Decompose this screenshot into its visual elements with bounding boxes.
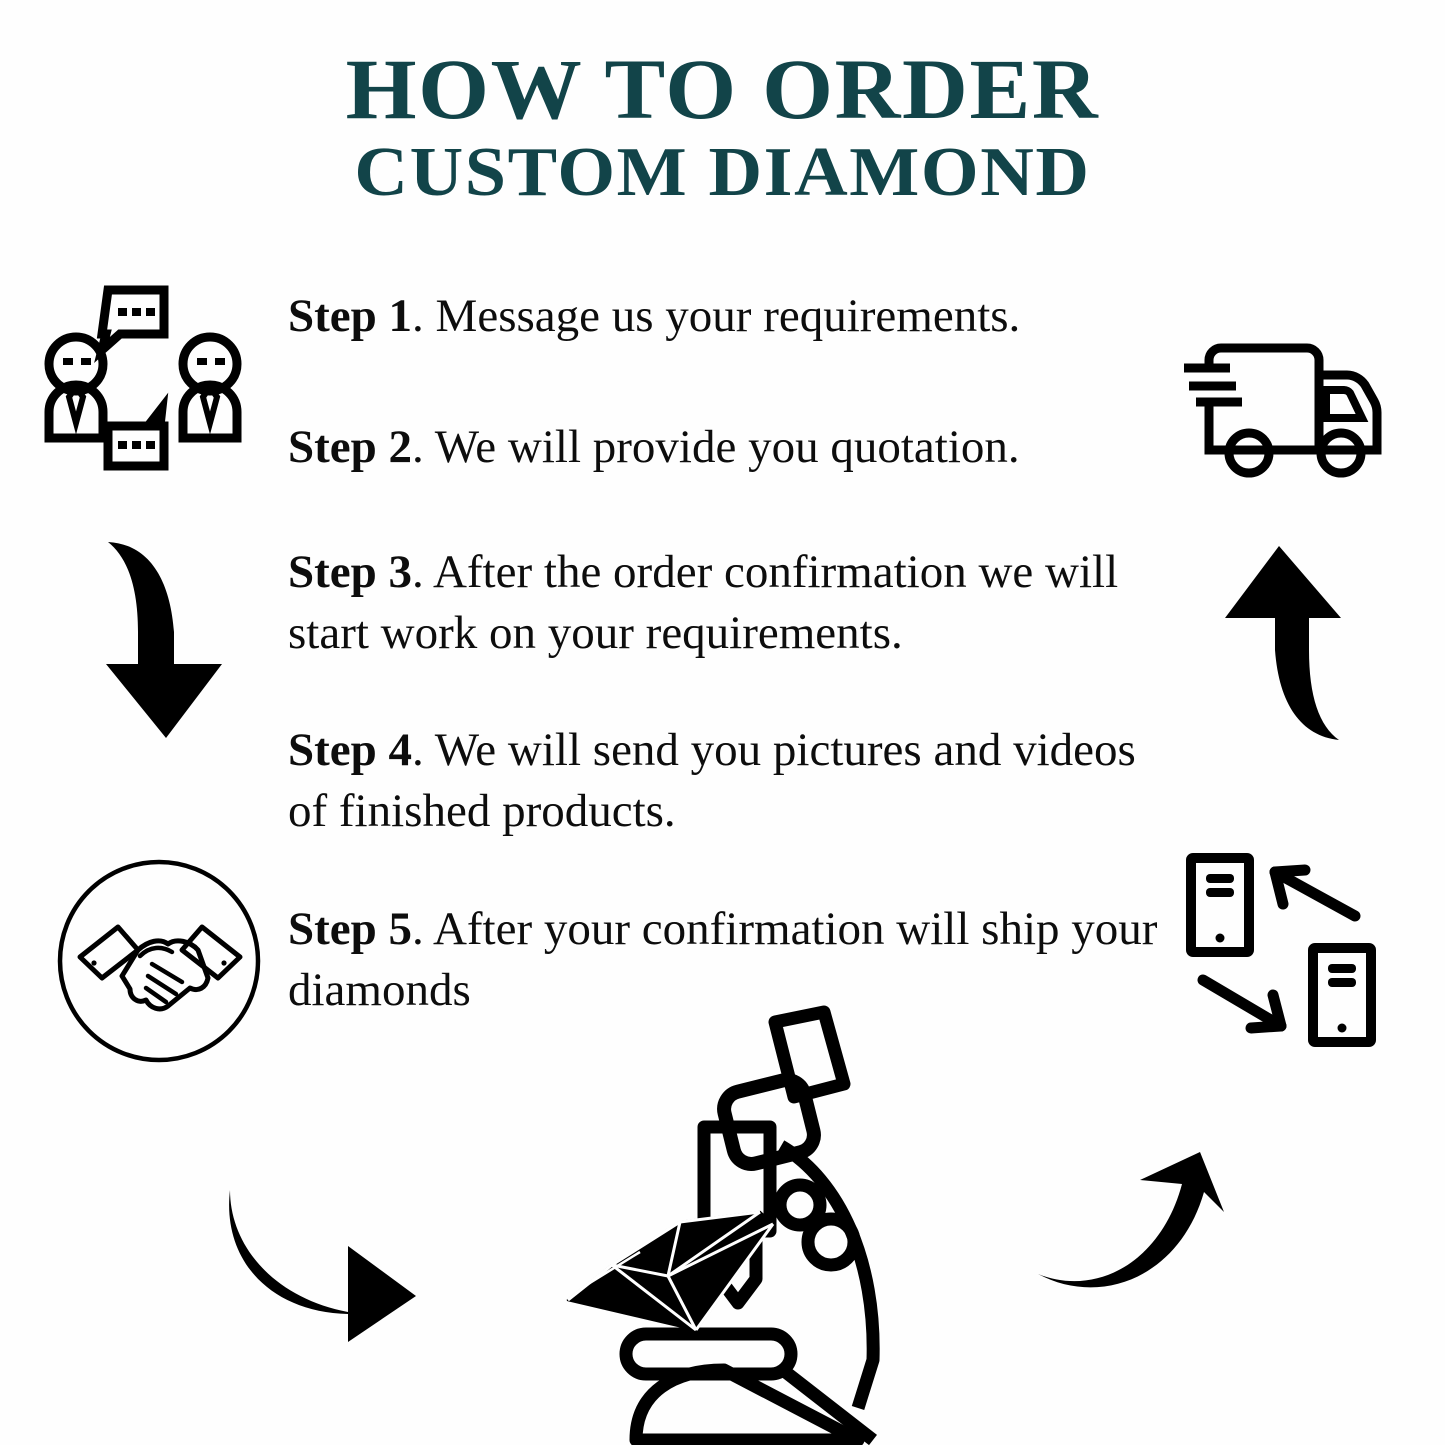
device-transfer-icon bbox=[1165, 848, 1400, 1053]
step-label-4: Step 4 bbox=[288, 724, 412, 776]
title-line-1: HOW TO ORDER bbox=[0, 46, 1445, 132]
step-separator-4: . bbox=[412, 724, 435, 776]
step-label-5: Step 5 bbox=[288, 903, 412, 955]
steps-list: Step 1. Message us your requirements. St… bbox=[288, 286, 1178, 1021]
page-title: HOW TO ORDER CUSTOM DIAMOND bbox=[0, 46, 1445, 208]
delivery-truck-icon bbox=[1176, 330, 1391, 490]
step-separator-3: . bbox=[412, 546, 433, 598]
step-label-2: Step 2 bbox=[288, 421, 412, 473]
step-label-1: Step 1 bbox=[288, 290, 412, 342]
step-item-2: Step 2. We will provide you quotation. bbox=[288, 417, 1178, 478]
step-separator-1: . bbox=[412, 290, 436, 342]
step-text-2: We will provide you quotation. bbox=[435, 421, 1020, 473]
step-separator-5: . bbox=[412, 903, 433, 955]
step-item-1: Step 1. Message us your requirements. bbox=[288, 286, 1178, 347]
title-line-2: CUSTOM DIAMOND bbox=[0, 138, 1445, 208]
arrow-down-curved-icon bbox=[98, 536, 234, 744]
arrow-up-curved-icon bbox=[1213, 540, 1355, 746]
handshake-circle-icon bbox=[56, 858, 262, 1064]
step-label-3: Step 3 bbox=[288, 546, 412, 598]
microscope-diamond-icon bbox=[528, 1000, 928, 1445]
step-text-1: Message us your requirements. bbox=[436, 290, 1021, 342]
step-item-3: Step 3. After the order confirmation we … bbox=[288, 542, 1178, 664]
step-separator-2: . bbox=[412, 421, 435, 473]
arrow-right-curved-icon bbox=[212, 1186, 427, 1346]
step-item-4: Step 4. We will send you pictures and vi… bbox=[288, 720, 1178, 842]
infographic-canvas: HOW TO ORDER CUSTOM DIAMOND Step 1. Mess… bbox=[0, 0, 1445, 1445]
discussion-people-icon bbox=[38, 276, 253, 481]
arrow-upright-curved-icon bbox=[1028, 1148, 1243, 1316]
